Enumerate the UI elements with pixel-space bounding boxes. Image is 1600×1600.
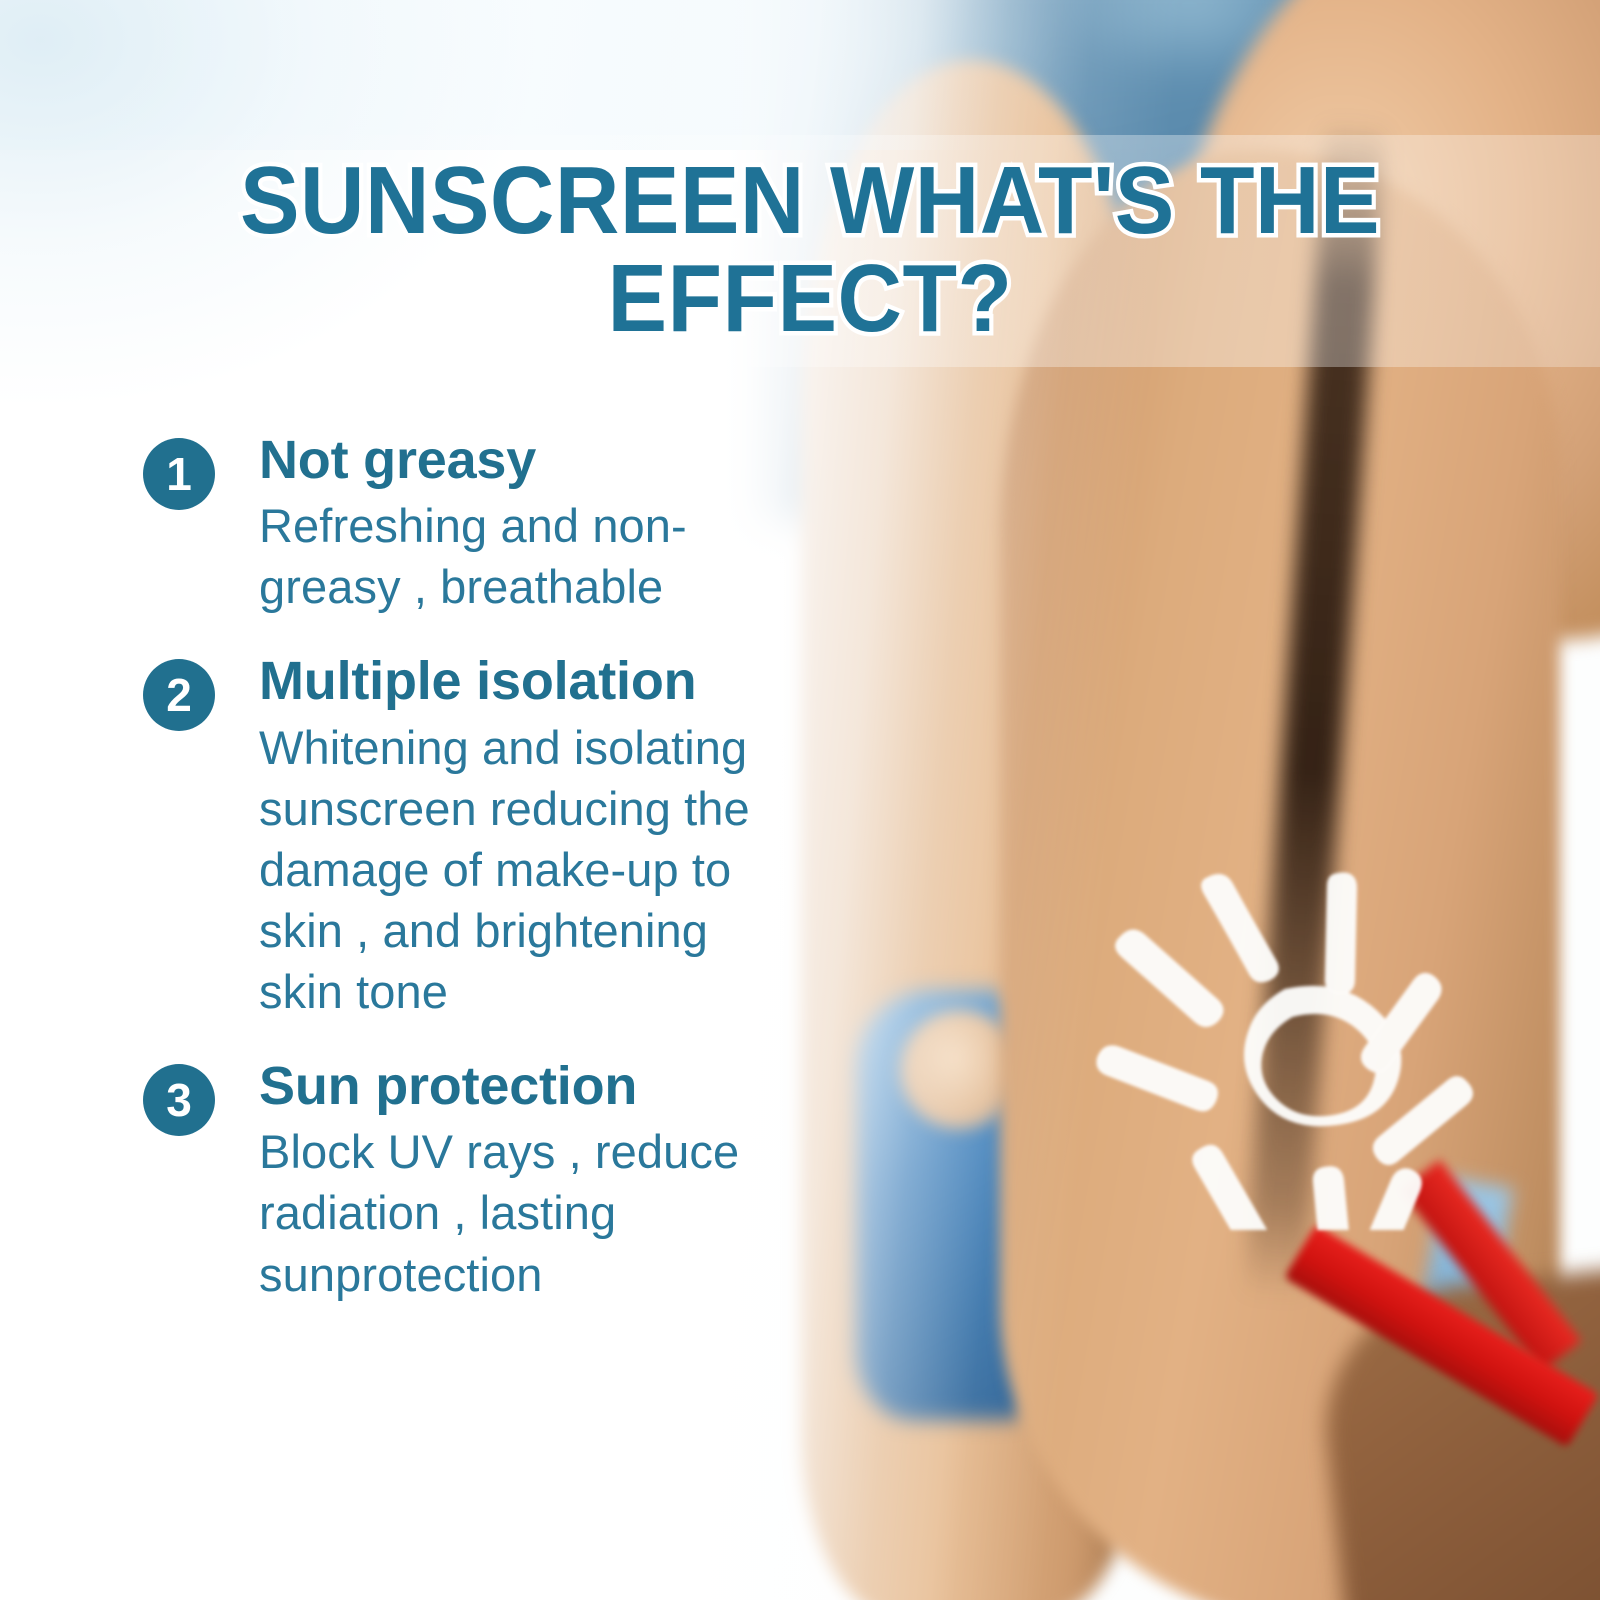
feature-list: 1 Not greasy Refreshing and non-greasy ,… [140,432,820,1305]
feature-number-badge-2: 2 [143,659,215,731]
feature-number-badge-1: 1 [143,438,215,510]
feature-body-3: Block UV rays , reduce radiation , lasti… [259,1121,749,1304]
feature-text-block-1: Not greasy Refreshing and non-greasy , b… [259,432,820,617]
page-title-line-1: SUNSCREEN WHAT'S THE [240,147,1380,254]
feature-item-multiple-isolation: 2 Multiple isolation Whitening and isola… [140,653,820,1022]
feature-heading-3: Sun protection [259,1058,820,1115]
page-title: SUNSCREEN WHAT'S THE EFFECT? [168,152,1451,348]
feature-body-2: Whitening and isolating sunscreen reduci… [259,717,779,1022]
page-title-line-2: EFFECT? [608,245,1013,352]
sunscreen-infographic-poster: SUNSCREEN WHAT'S THE EFFECT? 1 Not greas… [0,0,1600,1600]
feature-text-block-3: Sun protection Block UV rays , reduce ra… [259,1058,820,1305]
feature-item-not-greasy: 1 Not greasy Refreshing and non-greasy ,… [140,432,820,617]
feature-heading-2: Multiple isolation [259,653,820,710]
feature-number-badge-3: 3 [143,1064,215,1136]
feature-heading-1: Not greasy [259,432,820,489]
feature-item-sun-protection: 3 Sun protection Block UV rays , reduce … [140,1058,820,1305]
feature-body-1: Refreshing and non-greasy , breathable [259,495,759,617]
feature-text-block-2: Multiple isolation Whitening and isolati… [259,653,820,1022]
